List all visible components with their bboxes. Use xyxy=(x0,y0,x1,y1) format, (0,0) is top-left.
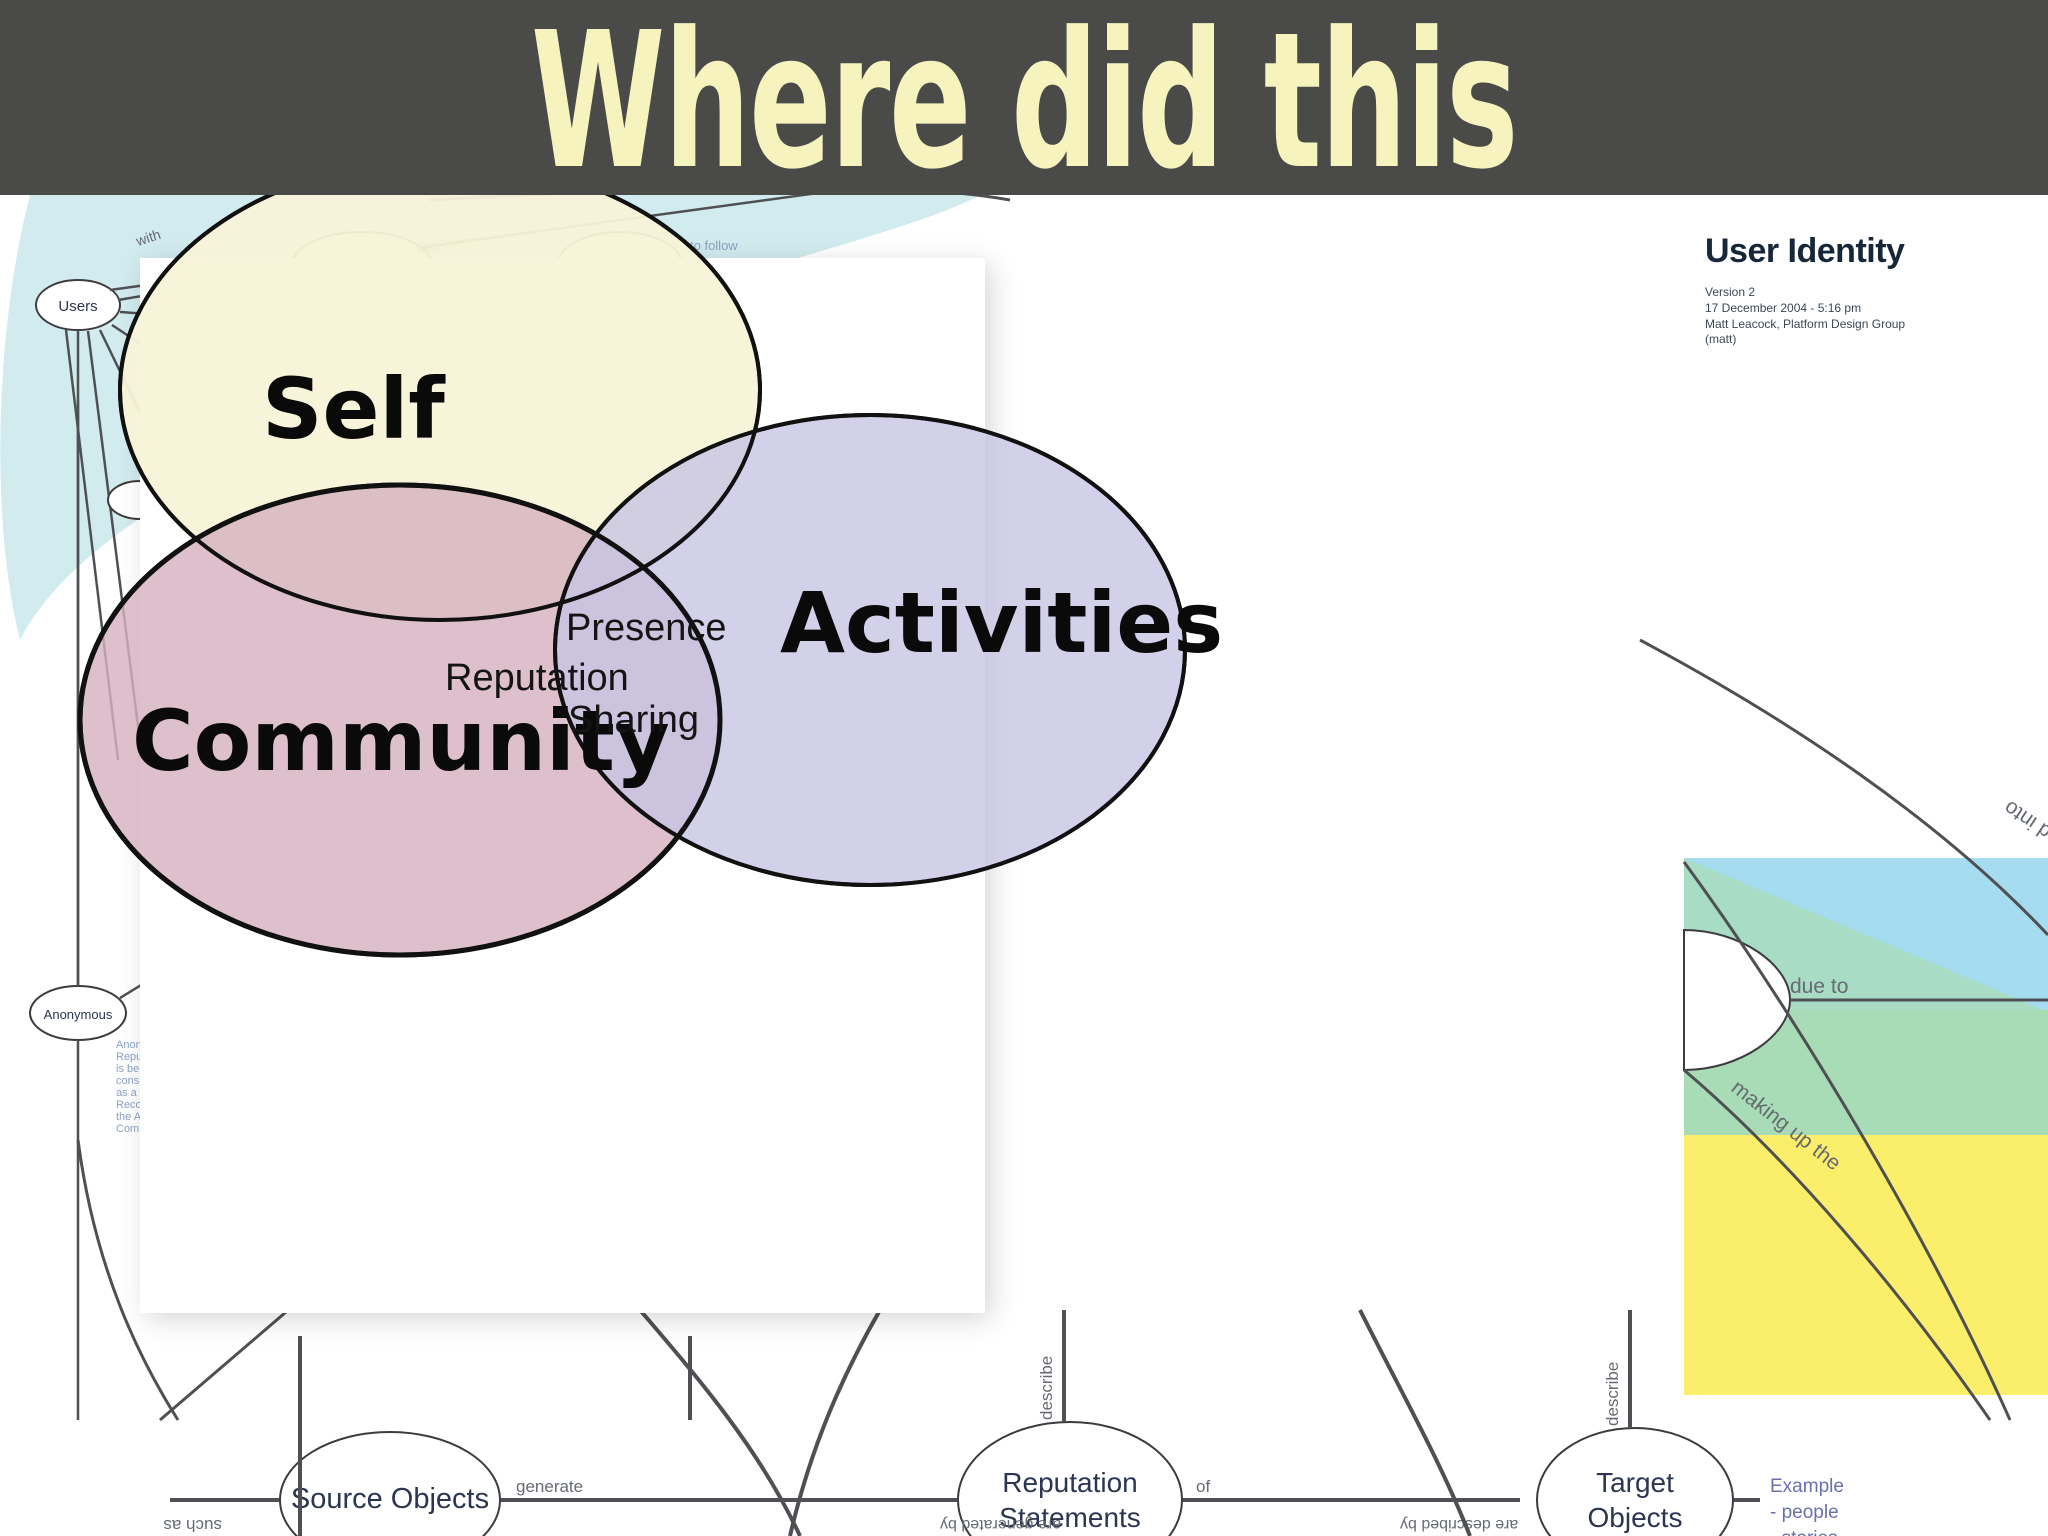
meta-handle: (matt) xyxy=(1705,332,2035,348)
bottom-diagonal-3 xyxy=(1360,1310,1470,1536)
node-label-reputation-statements-1: Reputation xyxy=(1002,1467,1137,1498)
page-title: Where did this xyxy=(287,8,1762,195)
yellow-band xyxy=(1684,1135,2048,1395)
edge-label-describe-left: describe xyxy=(1037,1356,1056,1420)
node-label-anonymous: Anonymous xyxy=(44,1007,113,1022)
bottom-diagonal-2 xyxy=(790,1310,880,1536)
edge-label-due-to: due to xyxy=(1790,975,1848,998)
note-to-follow: to follow xyxy=(690,238,738,253)
poster-doc-meta: Version 2 17 December 2004 - 5:16 pm Mat… xyxy=(1705,285,2035,348)
annotation-target-objects-example: Example - people - stories xyxy=(1770,1476,1844,1536)
edge-label-such-as: such as xyxy=(163,1516,222,1535)
edge-label-describe-right: describe xyxy=(1603,1362,1622,1426)
svg-text:- stories: - stories xyxy=(1770,1528,1838,1536)
bottom-diagonal-1 xyxy=(640,1310,800,1536)
node-anonymous: Anonymous xyxy=(30,986,126,1040)
slide-canvas: due to making up the are grouped into Us… xyxy=(0,0,2048,1536)
svg-text:- people: - people xyxy=(1770,1502,1839,1523)
node-target-objects: Target Objects xyxy=(1537,1428,1733,1536)
node-users: Users xyxy=(36,280,120,330)
edge-label-are-generated-by: are generated by xyxy=(940,1516,1061,1533)
meta-version: Version 2 xyxy=(1705,285,2035,301)
venn-page-overlay xyxy=(140,258,985,1313)
meta-author: Matt Leacock, Platform Design Group xyxy=(1705,317,2035,333)
edge-label-with-top: with xyxy=(415,241,439,256)
node-label-users: Users xyxy=(58,298,97,315)
svg-text:Example: Example xyxy=(1770,1476,1844,1497)
slide-header: Where did this xyxy=(0,0,2048,195)
poster-doc-title: User Identity xyxy=(1705,232,2035,271)
node-label-target-objects-1: Target xyxy=(1596,1467,1674,1498)
meta-date: 17 December 2004 - 5:16 pm xyxy=(1705,301,2035,317)
node-label-source-objects: Source Objects xyxy=(291,1483,489,1515)
node-source-objects: Source Objects xyxy=(280,1432,500,1536)
edge-label-of: of xyxy=(1196,1477,1210,1496)
edge-label-generate: generate xyxy=(516,1477,583,1496)
edge-label-are-described-by: are described by xyxy=(1400,1516,1518,1533)
poster-heading: User Identity Version 2 17 December 2004… xyxy=(1705,232,2035,348)
node-label-target-objects-2: Objects xyxy=(1588,1502,1683,1533)
bottom-left-curve-2 xyxy=(160,1300,300,1420)
